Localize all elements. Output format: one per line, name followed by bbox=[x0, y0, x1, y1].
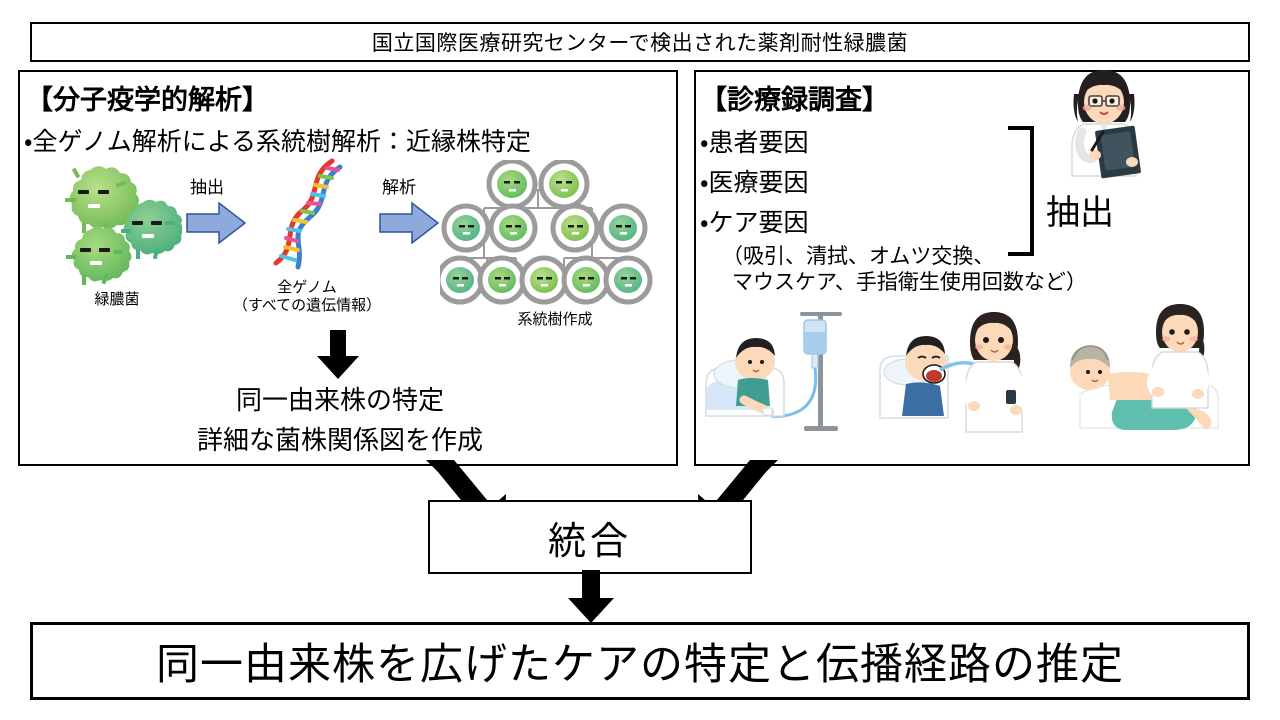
curly-bracket-icon bbox=[1008, 126, 1034, 256]
integration-label: 統合 bbox=[548, 510, 632, 565]
dna-helix-icon bbox=[258, 155, 354, 275]
conclusion-box: 同一由来株を広げたケアの特定と伝播経路の推定 bbox=[30, 622, 1250, 700]
left-result-line2: 詳細な菌株関係図を作成 bbox=[105, 420, 575, 457]
patient-iv-drip-icon bbox=[700, 300, 860, 445]
extract-arrow-label: 抽出 bbox=[190, 173, 224, 198]
diagram-canvas: 国立国際医療研究センターで検出された薬剤耐性緑膿菌 【分子疫学的解析】 ・全ゲノ… bbox=[0, 0, 1280, 720]
arrow-right-icon-2 bbox=[378, 200, 440, 251]
right-panel-bullet-1: ・医療要因 bbox=[700, 163, 809, 199]
bacteria-character-icon bbox=[52, 160, 182, 285]
integration-box: 統合 bbox=[428, 500, 752, 574]
nurse-suction-care-icon bbox=[878, 298, 1053, 448]
page-title-text: 国立国際医療研究センターで検出された薬剤耐性緑膿菌 bbox=[372, 27, 908, 57]
right-panel-bullet-0: ・患者要因 bbox=[700, 123, 809, 159]
bacteria-label: 緑膿菌 bbox=[62, 288, 172, 309]
left-result-line1: 同一由来株の特定 bbox=[130, 380, 550, 417]
right-panel-heading: 【診療録調査】 bbox=[700, 78, 889, 117]
left-panel-bullet: ・全ゲノム解析による系統樹解析：近縁株特定 bbox=[24, 122, 531, 158]
right-extract-label: 抽出 bbox=[1046, 185, 1114, 234]
analysis-arrow-label: 解析 bbox=[382, 173, 416, 198]
right-panel-bullet-2: ・ケア要因 bbox=[700, 203, 809, 239]
arrow-right-icon bbox=[185, 200, 247, 251]
bacteria-group-svg bbox=[52, 160, 182, 285]
page-title: 国立国際医療研究センターで検出された薬剤耐性緑膿菌 bbox=[30, 22, 1250, 62]
nurse-body-wiping-icon bbox=[1060, 298, 1238, 448]
tree-label: 系統樹作成 bbox=[495, 308, 615, 329]
left-panel-heading: 【分子疫学的解析】 bbox=[26, 78, 269, 117]
right-panel-subline-2: マウスケア、手指衛生使用回数など） bbox=[732, 266, 1087, 296]
genome-label-line2: （すべての遺伝情報） bbox=[197, 294, 417, 315]
arrow-down-icon bbox=[313, 330, 363, 385]
doctor-clipboard-icon bbox=[1048, 62, 1158, 187]
arrow-down-icon-2 bbox=[564, 570, 618, 629]
conclusion-text: 同一由来株を広げたケアの特定と伝播経路の推定 bbox=[156, 630, 1124, 692]
phylogenetic-tree-icon bbox=[440, 160, 668, 315]
